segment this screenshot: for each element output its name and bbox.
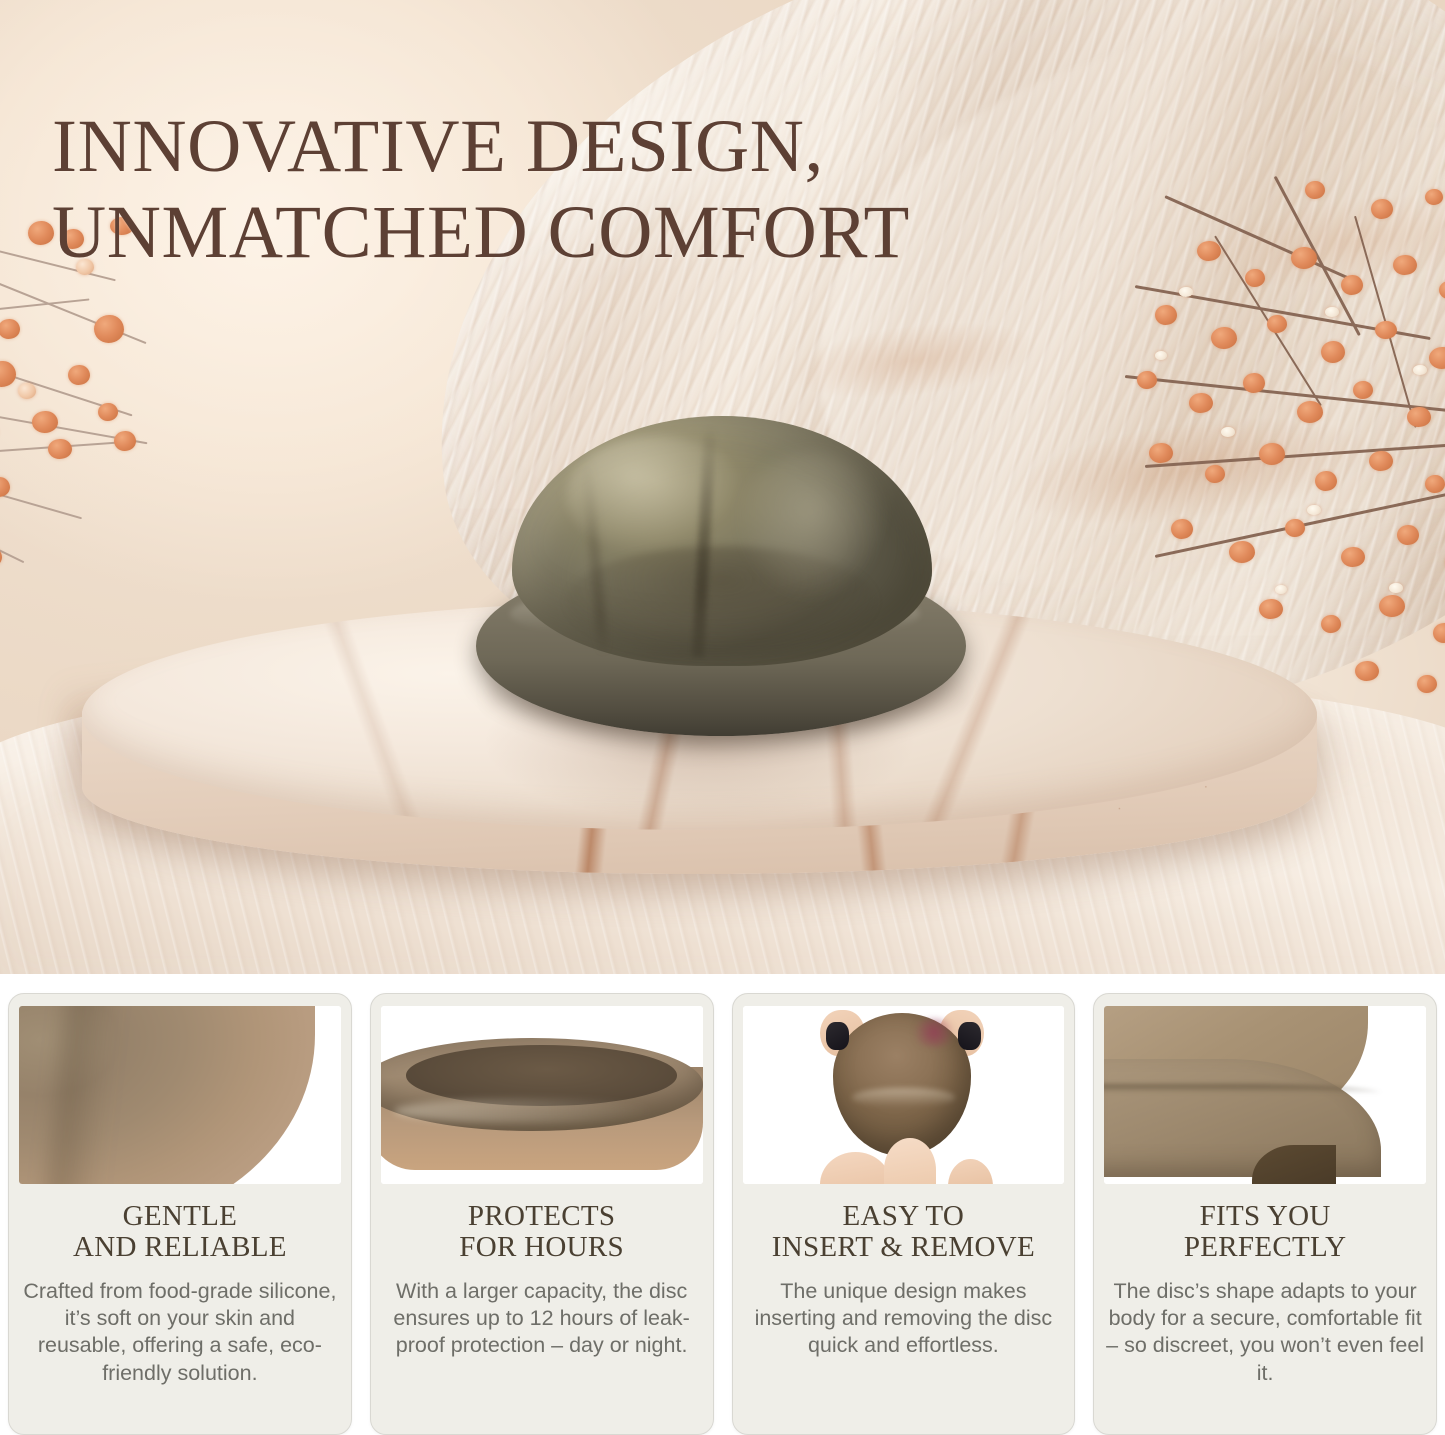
disc-rim-top-view-photo [381, 1006, 703, 1184]
card-title: EASY TO INSERT & REMOVE [772, 1201, 1035, 1264]
disc-dome-closeup-photo [19, 1006, 341, 1184]
card-title: GENTLE AND RELIABLE [73, 1201, 287, 1264]
silicone-menstrual-disc [470, 416, 975, 734]
card-body-text: Crafted from food-grade silicone, it’s s… [19, 1278, 341, 1387]
product-infographic-page: INNOVATIVE DESIGN, UNMATCHED COMFORT GEN… [0, 0, 1445, 1435]
card-title: PROTECTS FOR HOURS [459, 1201, 624, 1264]
card-title-line-2: PERFECTLY [1184, 1231, 1347, 1263]
card-title-line-2: FOR HOURS [459, 1231, 624, 1263]
card-body-text: The disc’s shape adapts to your body for… [1104, 1278, 1426, 1387]
card-title-line-1: GENTLE [123, 1200, 238, 1232]
disc-rim-edge-closeup-photo [1104, 1006, 1426, 1184]
disc-secondary-highlight [736, 452, 886, 602]
card-title-line-2: AND RELIABLE [73, 1231, 287, 1263]
hero-lifestyle-image: INNOVATIVE DESIGN, UNMATCHED COMFORT [0, 0, 1445, 974]
feature-cards-row: GENTLE AND RELIABLE Crafted from food-gr… [0, 993, 1445, 1435]
hero-headline: INNOVATIVE DESIGN, UNMATCHED COMFORT [52, 104, 1052, 275]
headline-line-2: UNMATCHED COMFORT [52, 190, 1052, 276]
disc-specular-highlight [566, 436, 746, 556]
dried-orange-blossom-branch-left [0, 215, 300, 645]
card-title-line-1: PROTECTS [468, 1200, 615, 1232]
card-title-line-2: INSERT & REMOVE [772, 1231, 1035, 1263]
dried-orange-blossom-branch-right [1125, 175, 1445, 735]
feature-card-protects-for-hours[interactable]: PROTECTS FOR HOURS With a larger capacit… [370, 993, 714, 1435]
headline-line-1: INNOVATIVE DESIGN, [52, 105, 824, 188]
card-title-line-1: FITS YOU [1200, 1200, 1331, 1232]
feature-card-easy-to-insert-and-remove[interactable]: EASY TO INSERT & REMOVE The unique desig… [732, 993, 1076, 1435]
hand-holding-disc-photo [743, 1006, 1065, 1184]
card-body-text: The unique design makes inserting and re… [743, 1278, 1065, 1360]
card-body-text: With a larger capacity, the disc ensures… [381, 1278, 703, 1360]
card-title: FITS YOU PERFECTLY [1184, 1201, 1347, 1264]
card-title-line-1: EASY TO [843, 1200, 965, 1232]
feature-card-fits-you-perfectly[interactable]: FITS YOU PERFECTLY The disc’s shape adap… [1093, 993, 1437, 1435]
feature-card-gentle-and-reliable[interactable]: GENTLE AND RELIABLE Crafted from food-gr… [8, 993, 352, 1435]
